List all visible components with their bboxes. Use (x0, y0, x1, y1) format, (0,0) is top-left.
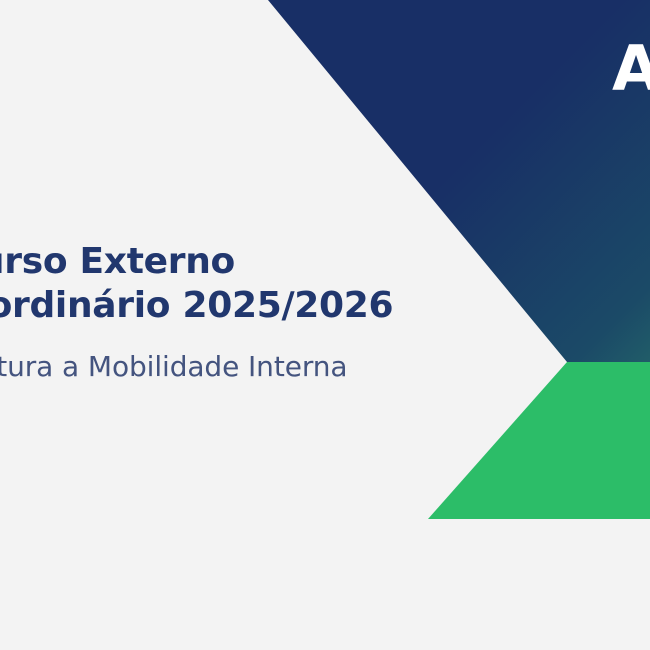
headline-line-1: Concurso Externo (0, 240, 502, 284)
promo-banner: A Concurso Externo Extraordinário 2025/2… (0, 0, 650, 650)
brand-letter-mark: A (612, 38, 650, 100)
banner-subhead: Candidatura a Mobilidade Interna (0, 328, 502, 384)
headline-line-2: Extraordinário 2025/2026 (0, 284, 502, 328)
banner-text-block: Concurso Externo Extraordinário 2025/202… (0, 240, 502, 383)
